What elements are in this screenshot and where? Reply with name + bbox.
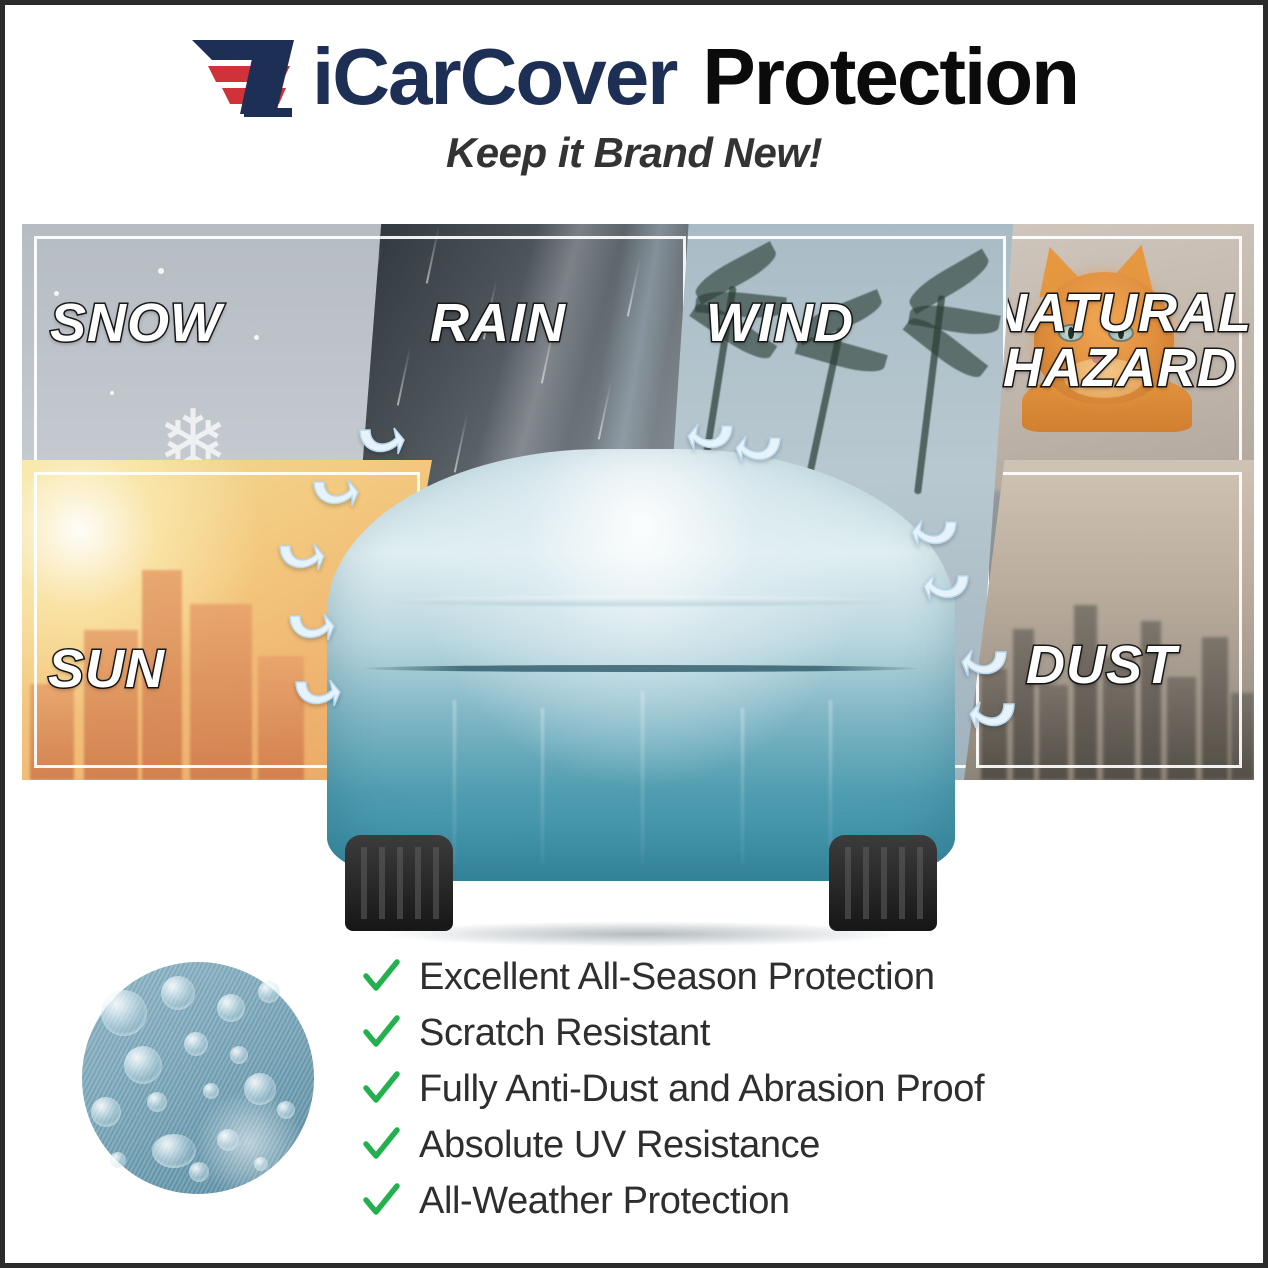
deflection-arrow-icon xyxy=(968,694,1020,738)
cover-seam-decor xyxy=(365,665,918,672)
header: iCarCover Protection Keep it Brand New! xyxy=(5,31,1263,177)
fabric-closeup-image xyxy=(82,962,314,1194)
feature-item: Fully Anti-Dust and Abrasion Proof xyxy=(361,1061,984,1117)
car-shadow-decor xyxy=(377,921,905,947)
car-cover-body xyxy=(327,449,955,881)
feature-item: Scratch Resistant xyxy=(361,1005,984,1061)
deflection-arrow-icon xyxy=(290,672,342,716)
feature-label: Scratch Resistant xyxy=(419,1012,710,1055)
feature-label: Absolute UV Resistance xyxy=(419,1124,820,1167)
panel-label-rain: RAIN xyxy=(430,296,566,351)
tagline: Keep it Brand New! xyxy=(5,129,1263,177)
feature-label: Excellent All-Season Protection xyxy=(419,956,935,999)
feature-item: Excellent All-Season Protection xyxy=(361,949,984,1005)
covered-car-image xyxy=(327,437,955,947)
deflection-arrow-icon xyxy=(922,566,974,610)
cover-fold-decor xyxy=(390,596,892,606)
panel-label-snow: SNOW xyxy=(50,296,222,351)
feature-label: All-Weather Protection xyxy=(419,1180,790,1223)
feature-label: Fully Anti-Dust and Abrasion Proof xyxy=(419,1068,984,1111)
check-icon xyxy=(361,957,401,997)
water-beading-swatch xyxy=(73,953,323,1203)
brand-name-secondary: Protection xyxy=(702,34,1078,120)
features-list: Excellent All-Season Protection Scratch … xyxy=(361,949,984,1229)
feature-item: Absolute UV Resistance xyxy=(361,1117,984,1173)
features-section: Excellent All-Season Protection Scratch … xyxy=(5,935,1263,1255)
page-title: iCarCover Protection xyxy=(5,31,1263,123)
panel-label-dust: DUST xyxy=(1026,638,1177,693)
deflection-arrow-icon xyxy=(308,472,360,516)
panel-label-sun: SUN xyxy=(48,642,165,697)
deflection-arrow-icon xyxy=(960,642,1012,686)
deflection-arrow-icon xyxy=(274,536,326,580)
deflection-arrow-icon xyxy=(686,416,738,460)
deflection-arrow-icon xyxy=(284,606,336,650)
deflection-arrow-icon xyxy=(354,420,406,464)
brand-name-primary: iCarCover xyxy=(312,34,676,120)
panel-label-natural-hazard: NATURAL HAZARD xyxy=(984,286,1254,396)
deflection-arrow-icon xyxy=(734,428,786,472)
feature-item: All-Weather Protection xyxy=(361,1173,984,1229)
check-icon xyxy=(361,1069,401,1109)
check-icon xyxy=(361,1013,401,1053)
front-left-wheel xyxy=(345,835,453,931)
panel-label-wind: WIND xyxy=(706,296,854,351)
infographic-page: iCarCover Protection Keep it Brand New! xyxy=(0,0,1268,1268)
deflection-arrow-icon xyxy=(910,512,962,556)
front-right-wheel xyxy=(829,835,937,931)
check-icon xyxy=(361,1125,401,1165)
icarcover-wing-logo-icon xyxy=(190,34,308,120)
check-icon xyxy=(361,1181,401,1221)
